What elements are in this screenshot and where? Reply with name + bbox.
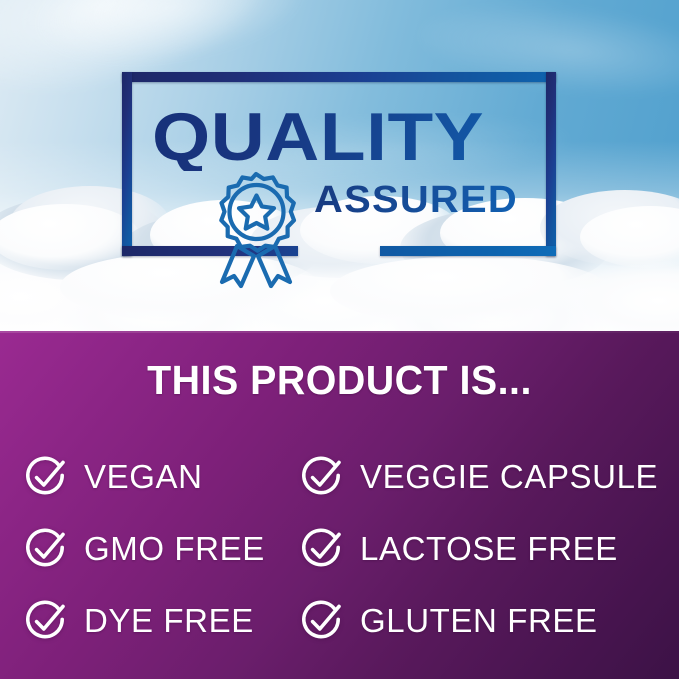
assured-subheadline: ASSURED	[314, 181, 518, 219]
check-circle-icon	[22, 453, 70, 501]
product-claims-list: VEGAN VEGGIE CAPSULE G	[0, 441, 679, 657]
check-circle-icon	[298, 453, 346, 501]
cloud-puff	[0, 204, 140, 270]
feature-item-vegan: VEGAN	[0, 453, 290, 501]
product-infographic: QUALITY ASSURED THIS PRODUCT IS...	[0, 0, 679, 679]
product-claims-panel: THIS PRODUCT IS... VEGAN	[0, 331, 679, 679]
quality-headline: QUALITY	[152, 103, 592, 171]
cloud-puff	[580, 206, 679, 268]
product-claims-title: THIS PRODUCT IS...	[14, 358, 666, 402]
feature-label: GLUTEN FREE	[360, 603, 598, 639]
award-rosette-icon	[204, 170, 308, 292]
rosette-inner-ring	[230, 185, 284, 239]
feature-item-veggie-capsule: VEGGIE CAPSULE	[290, 453, 679, 501]
check-circle-icon	[22, 597, 70, 645]
cloud-puff	[330, 256, 610, 326]
check-circle-icon	[298, 597, 346, 645]
ribbon-tail-right	[258, 246, 290, 286]
sky-background: QUALITY ASSURED	[0, 0, 679, 331]
feature-item-gluten-free: GLUTEN FREE	[290, 597, 679, 645]
check-circle-icon	[22, 525, 70, 573]
frame-border-left	[122, 72, 132, 256]
rosette-star-icon	[239, 196, 274, 229]
frame-border-top	[122, 72, 556, 82]
ribbon-tail-left	[222, 246, 254, 286]
feature-label: VEGAN	[84, 459, 203, 495]
feature-item-lactose-free: LACTOSE FREE	[290, 525, 679, 573]
feature-label: GMO FREE	[84, 531, 265, 567]
feature-label: DYE FREE	[84, 603, 254, 639]
feature-label: VEGGIE CAPSULE	[360, 459, 658, 495]
feature-item-dye-free: DYE FREE	[0, 597, 290, 645]
cirrus-cloud-wisp	[35, 0, 306, 74]
panel-top-divider	[0, 331, 679, 333]
feature-label: LACTOSE FREE	[360, 531, 618, 567]
check-circle-icon	[298, 525, 346, 573]
award-rosette-svg	[204, 170, 308, 292]
feature-item-gmo-free: GMO FREE	[0, 525, 290, 573]
frame-border-bottom-right	[380, 246, 556, 256]
cloud-puff	[540, 190, 679, 266]
